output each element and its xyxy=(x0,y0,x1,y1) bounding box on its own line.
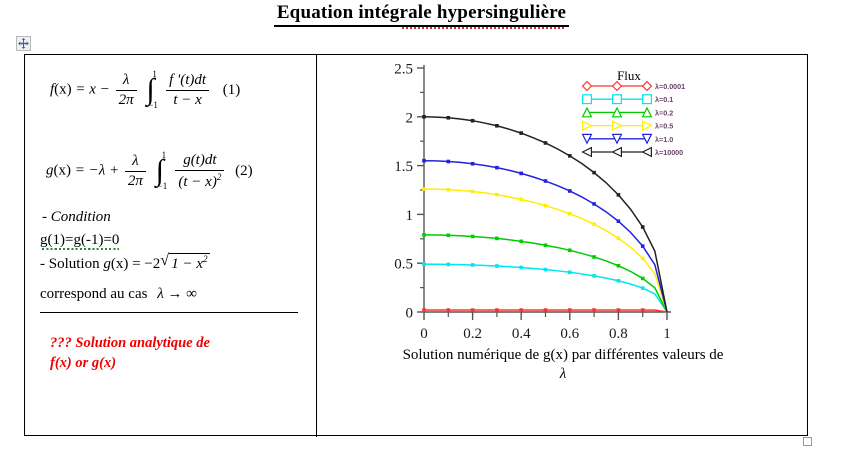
eq2-integrand-num: g(t)dt xyxy=(175,152,224,171)
eq2-number: (2) xyxy=(235,163,253,179)
series-point xyxy=(520,240,523,243)
legend-entry-0[interactable]: λ=0.0001 xyxy=(583,82,686,91)
sqrt-icon: 1 − x2 xyxy=(160,254,209,273)
legend-marker-triangle-left xyxy=(643,148,652,157)
legend-marker-triangle-right xyxy=(583,121,592,130)
series-point xyxy=(447,309,450,312)
series-point xyxy=(544,180,547,183)
series-point xyxy=(471,119,474,122)
resize-square-icon[interactable] xyxy=(803,437,812,446)
x-tick-label: 0.4 xyxy=(512,326,531,342)
series-point xyxy=(471,264,474,267)
series-point xyxy=(617,264,620,267)
series-point xyxy=(569,271,572,274)
series-point xyxy=(569,249,572,252)
series-point xyxy=(423,159,426,162)
series-point xyxy=(593,309,596,312)
eq1-frac-num: λ xyxy=(116,72,137,91)
horizontal-rule xyxy=(40,312,298,313)
chart-series-2 xyxy=(423,234,667,312)
legend-label: λ=0.0001 xyxy=(655,82,685,91)
x-tick-label: 0.6 xyxy=(560,326,579,342)
solution-radicand-base: 1 − x xyxy=(171,256,203,272)
legend-marker-triangle-left xyxy=(583,148,592,157)
correspond-line: correspond au cas λ → ∞ xyxy=(40,286,197,303)
series-point xyxy=(593,171,596,174)
solution-plot: 00.511.522.500.20.40.60.81Fluxλ=0.0001λ=… xyxy=(317,54,808,344)
series-point xyxy=(496,166,499,169)
eq1-integrand: f '(t)dt t − x xyxy=(166,72,209,109)
y-tick-label: 0 xyxy=(406,306,414,322)
x-tick-label: 0.2 xyxy=(463,326,482,342)
legend-entry-5[interactable]: λ=10000 xyxy=(583,148,684,157)
series-point xyxy=(641,309,644,312)
series-point xyxy=(496,124,499,127)
series-point xyxy=(496,193,499,196)
legend-entry-3[interactable]: λ=0.5 xyxy=(583,121,674,130)
eq1-integrand-den: t − x xyxy=(166,91,209,109)
equation-2: g(x) = −λ + λ 2π 1 ∫ −1 g(t)dt (t − x)2 … xyxy=(46,152,253,191)
solution-line: - Solution g(x) = −21 − x2 xyxy=(40,254,210,273)
equation-1: f(x) = x − λ 2π 1 ∫ −1 f '(t)dt t − x (1… xyxy=(50,72,240,109)
legend-marker-diamond xyxy=(583,82,592,91)
x-tick-label: 0.8 xyxy=(609,326,628,342)
eq1-lambda-over-2pi: λ 2π xyxy=(116,72,137,109)
series-point xyxy=(593,275,596,278)
series-point xyxy=(569,212,572,215)
solution-lhs: g xyxy=(103,256,111,272)
series-point xyxy=(569,155,572,158)
eq2-frac-num: λ xyxy=(125,153,146,172)
chart-panel: 00.511.522.500.20.40.60.81Fluxλ=0.0001λ=… xyxy=(317,54,808,436)
eq2-int-lower: −1 xyxy=(158,181,168,191)
eq2-den-exp: 2 xyxy=(217,172,222,182)
series-point xyxy=(447,234,450,237)
correspond-limit: λ → ∞ xyxy=(157,286,197,302)
series-point xyxy=(423,188,426,191)
legend-label: λ=0.5 xyxy=(655,122,673,131)
series-point xyxy=(423,263,426,266)
series-point xyxy=(617,237,620,240)
eq1-integrand-num: f '(t)dt xyxy=(166,72,209,91)
series-point xyxy=(544,309,547,312)
series-point xyxy=(641,277,644,280)
caption-line-2: λ xyxy=(321,365,805,384)
series-point xyxy=(593,223,596,226)
series-point xyxy=(641,287,644,290)
eq2-den-base: (t − x) xyxy=(178,174,216,190)
eq1-integral-sign: 1 ∫ −1 xyxy=(143,73,159,107)
eq2-lhs-arg: (x) xyxy=(54,163,72,179)
eq2-integrand: g(t)dt (t − x)2 xyxy=(175,152,224,191)
solution-radicand: 1 − x2 xyxy=(169,253,209,273)
series-point xyxy=(593,256,596,259)
legend-marker-square xyxy=(613,95,622,104)
solution-equals: = −2 xyxy=(132,256,160,272)
legend-label: λ=1.0 xyxy=(655,135,673,144)
condition-label: - Condition xyxy=(42,209,111,226)
eq1-lhs-arg: (x) xyxy=(54,82,72,98)
series-point xyxy=(641,257,644,260)
red-note-line-2: f(x) or g(x) xyxy=(50,354,312,374)
series-point xyxy=(520,266,523,269)
series-point xyxy=(617,220,620,223)
y-tick-label: 1 xyxy=(406,208,414,224)
series-point xyxy=(447,160,450,163)
series-point xyxy=(423,116,426,119)
series-point xyxy=(593,203,596,206)
series-point xyxy=(496,265,499,268)
series-point xyxy=(520,309,523,312)
legend-title: Flux xyxy=(617,68,641,83)
legend-label: λ=0.2 xyxy=(655,108,673,117)
series-point xyxy=(544,142,547,145)
page-title: Equation intégrale hypersingulière xyxy=(0,2,843,27)
legend-marker-triangle-right xyxy=(613,121,622,130)
move-cross-icon[interactable] xyxy=(16,36,31,51)
page-title-text: Equation intégrale hypersingulière xyxy=(274,2,569,27)
y-tick-label: 2.5 xyxy=(394,62,413,78)
legend-marker-triangle-right xyxy=(643,121,652,130)
legend-entry-2[interactable]: λ=0.2 xyxy=(583,108,674,117)
series-point xyxy=(520,198,523,201)
solution-label: - Solution xyxy=(40,256,100,272)
legend-entry-1[interactable]: λ=0.1 xyxy=(583,95,674,104)
eq2-lambda-over-2pi: λ 2π xyxy=(125,153,146,190)
caption-line-1: Solution numérique de g(x) par différent… xyxy=(321,346,805,365)
series-point xyxy=(471,190,474,193)
series-point xyxy=(471,162,474,165)
solution-lhs-arg: (x) xyxy=(111,256,129,272)
correspond-text: correspond au cas xyxy=(40,286,147,302)
series-line xyxy=(424,189,667,312)
series-point xyxy=(496,309,499,312)
eq1-int-lower: −1 xyxy=(148,100,158,110)
series-point xyxy=(471,309,474,312)
chart-series-5 xyxy=(423,116,667,313)
series-point xyxy=(641,245,644,248)
series-point xyxy=(544,204,547,207)
condition-value: g(1)=g(-1)=0 xyxy=(40,232,119,249)
legend-marker-square xyxy=(643,95,652,104)
series-point xyxy=(617,194,620,197)
series-line xyxy=(424,117,667,312)
equations-panel: f(x) = x − λ 2π 1 ∫ −1 f '(t)dt t − x (1… xyxy=(24,54,316,436)
legend-marker-diamond xyxy=(643,82,652,91)
legend-label: λ=10000 xyxy=(655,148,683,157)
eq2-lhs-g: g xyxy=(46,163,54,179)
series-point xyxy=(569,190,572,193)
legend-label: λ=0.1 xyxy=(655,95,673,104)
legend-entry-4[interactable]: λ=1.0 xyxy=(583,134,674,143)
series-point xyxy=(423,309,426,312)
eq1-number: (1) xyxy=(223,82,241,98)
eq2-frac-den: 2π xyxy=(125,172,146,190)
series-point xyxy=(520,172,523,175)
eq2-equals: = −λ + xyxy=(75,163,119,179)
red-note-line-1: ??? Solution analytique de xyxy=(50,334,312,354)
eq2-integral-sign: 1 ∫ −1 xyxy=(153,154,169,188)
series-point xyxy=(447,263,450,266)
solution-radicand-exp: 2 xyxy=(203,254,208,264)
series-point xyxy=(423,234,426,237)
series-point xyxy=(447,188,450,191)
series-point xyxy=(471,235,474,238)
condition-value-text: g(1)=g(-1)=0 xyxy=(40,232,119,250)
series-point xyxy=(496,237,499,240)
eq2-integrand-den: (t − x)2 xyxy=(175,171,224,191)
chart-series-3 xyxy=(423,188,667,312)
y-tick-label: 1.5 xyxy=(394,159,413,175)
chart-series-1 xyxy=(423,263,667,312)
series-point xyxy=(520,132,523,135)
x-tick-label: 1 xyxy=(663,326,671,342)
eq1-frac-den: 2π xyxy=(116,91,137,109)
red-question-note: ??? Solution analytique de f(x) or g(x) xyxy=(50,334,312,373)
chart-caption: Solution numérique de g(x) par différent… xyxy=(321,346,805,384)
y-tick-label: 0.5 xyxy=(394,257,413,273)
legend-marker-triangle-left xyxy=(613,148,622,157)
series-point xyxy=(447,116,450,119)
series-point xyxy=(617,279,620,282)
series-point xyxy=(641,226,644,229)
legend-marker-square xyxy=(583,95,592,104)
series-point xyxy=(569,309,572,312)
x-tick-label: 0 xyxy=(420,326,428,342)
series-point xyxy=(617,309,620,312)
series-point xyxy=(544,244,547,247)
eq1-equals: = x − xyxy=(75,82,109,98)
series-point xyxy=(544,268,547,271)
y-tick-label: 2 xyxy=(406,110,414,126)
